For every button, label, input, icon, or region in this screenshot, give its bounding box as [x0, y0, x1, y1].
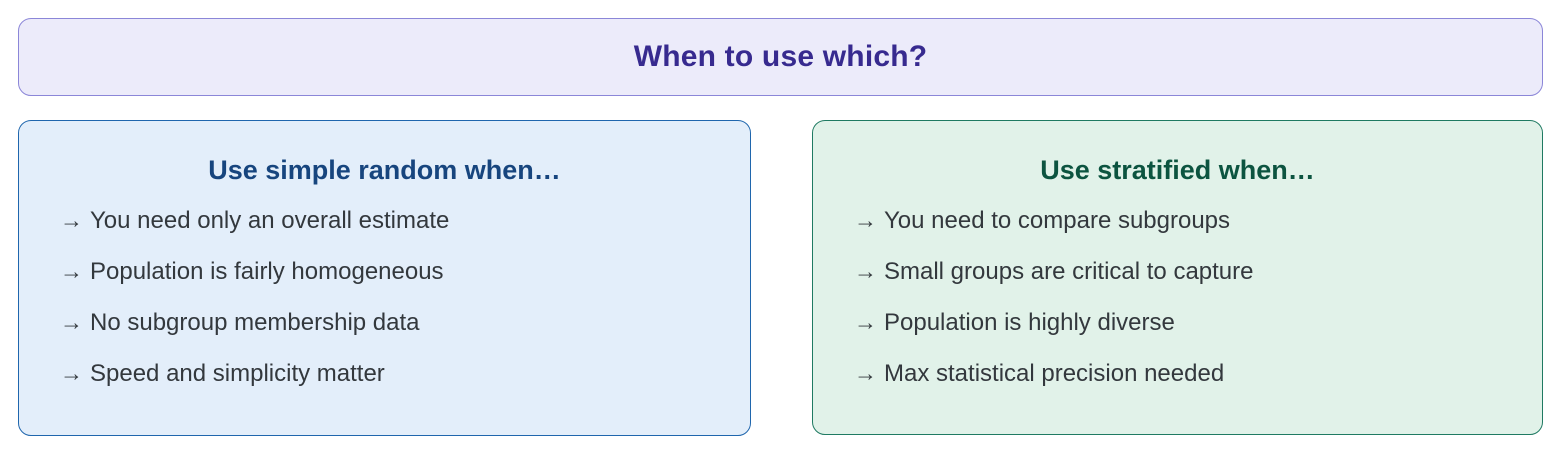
- list-item: → You need only an overall estimate: [60, 209, 449, 260]
- comparison-board: When to use which? Use simple random whe…: [0, 0, 1560, 466]
- list-item-label: You need only an overall estimate: [90, 209, 449, 233]
- list-item: → No subgroup membership data: [60, 311, 449, 362]
- arrow-right-icon: →: [854, 362, 884, 385]
- list-item-label: Population is highly diverse: [884, 311, 1175, 335]
- arrow-right-icon: →: [854, 311, 884, 334]
- arrow-right-icon: →: [60, 209, 90, 232]
- panel-heading-simple-random: Use simple random when…: [19, 157, 750, 184]
- list-item-label: You need to compare subgroups: [884, 209, 1230, 233]
- panel-simple-random: Use simple random when… → You need only …: [18, 120, 751, 436]
- list-item: → You need to compare subgroups: [854, 209, 1254, 260]
- list-item-label: Small groups are critical to capture: [884, 260, 1254, 284]
- header-banner: When to use which?: [18, 18, 1543, 96]
- panel-heading-stratified: Use stratified when…: [813, 157, 1542, 184]
- list-item: → Speed and simplicity matter: [60, 362, 449, 413]
- list-item: → Max statistical precision needed: [854, 362, 1254, 413]
- list-item-label: No subgroup membership data: [90, 311, 420, 335]
- list-item-label: Population is fairly homogeneous: [90, 260, 444, 284]
- arrow-right-icon: →: [60, 362, 90, 385]
- list-item-label: Speed and simplicity matter: [90, 362, 385, 386]
- list-item: → Population is fairly homogeneous: [60, 260, 449, 311]
- page-title: When to use which?: [634, 42, 928, 72]
- panel-stratified: Use stratified when… → You need to compa…: [812, 120, 1543, 435]
- list-item: → Small groups are critical to capture: [854, 260, 1254, 311]
- bullet-list-stratified: → You need to compare subgroups → Small …: [854, 209, 1254, 413]
- bullet-list-simple-random: → You need only an overall estimate → Po…: [60, 209, 449, 413]
- list-item-label: Max statistical precision needed: [884, 362, 1224, 386]
- arrow-right-icon: →: [60, 311, 90, 334]
- arrow-right-icon: →: [60, 260, 90, 283]
- arrow-right-icon: →: [854, 209, 884, 232]
- list-item: → Population is highly diverse: [854, 311, 1254, 362]
- arrow-right-icon: →: [854, 260, 884, 283]
